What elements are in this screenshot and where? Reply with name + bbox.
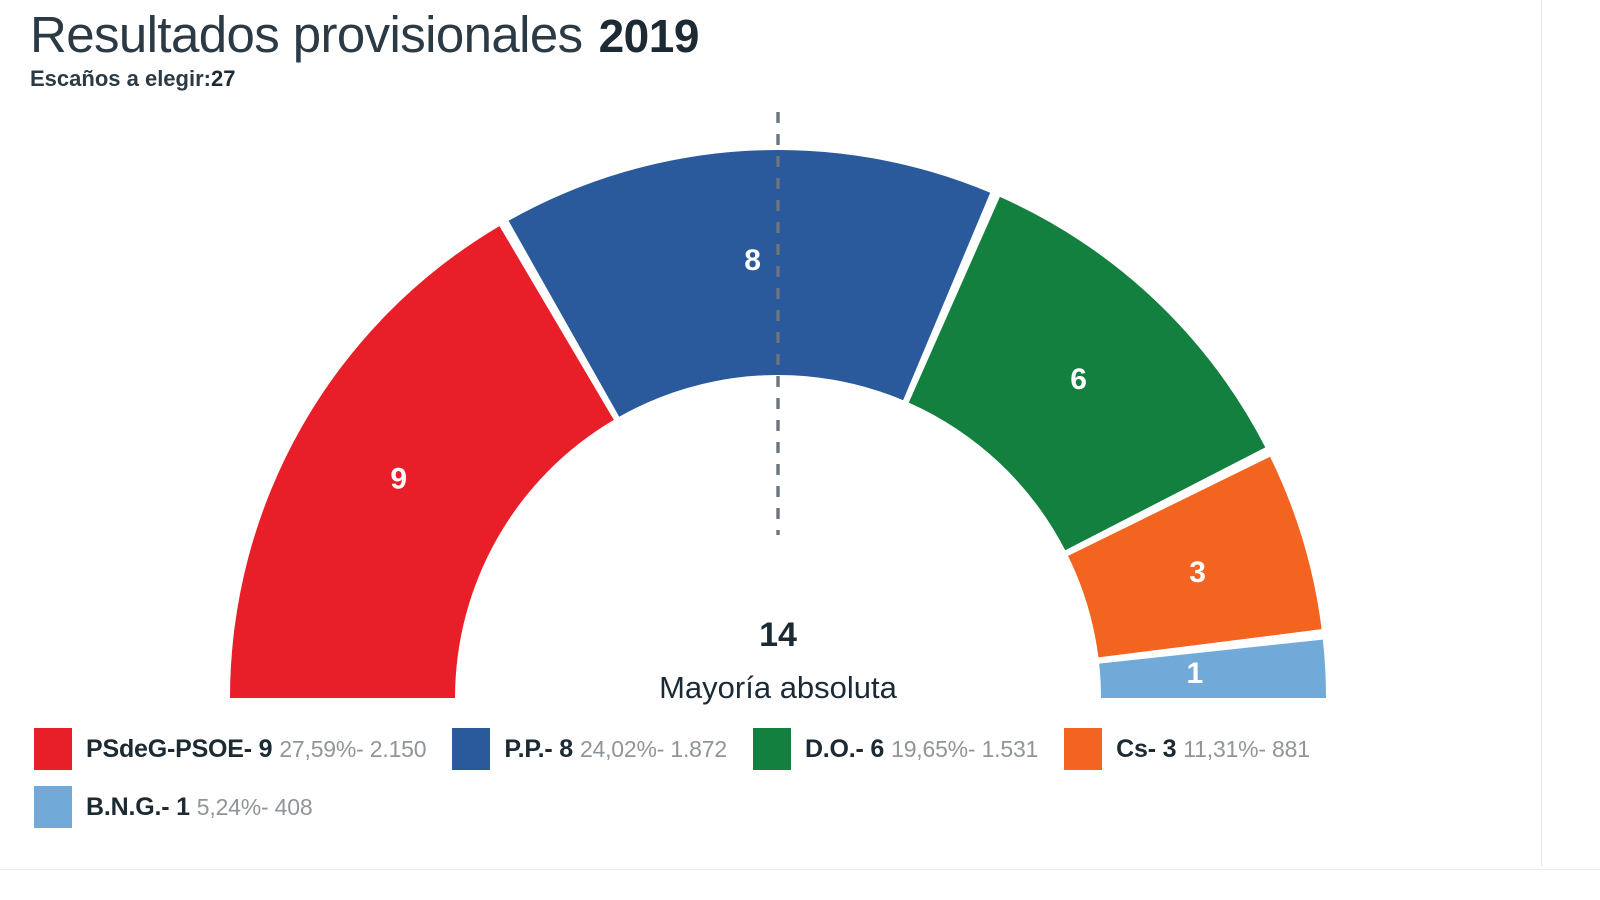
arc-segment-value-psdeg-psoe: 9 bbox=[390, 463, 407, 496]
legend-party-stats: 5,24%- 408 bbox=[197, 794, 313, 821]
arc-segments-group bbox=[230, 150, 1326, 698]
legend-color-swatch bbox=[1064, 728, 1102, 770]
legend-party-seats: P.P.- 8 bbox=[504, 735, 573, 764]
header: Resultados provisionales 2019 Escaños a … bbox=[30, 8, 1130, 92]
arc-segment-d-o[interactable] bbox=[909, 197, 1266, 550]
arc-segment-labels-group: 98631 bbox=[390, 244, 1206, 690]
legend-item[interactable]: P.P.- 824,02%- 1.872 bbox=[452, 726, 727, 772]
legend-party-seats: B.N.G.- 1 bbox=[86, 793, 190, 822]
arc-segment-value-d-o: 6 bbox=[1070, 363, 1087, 396]
legend-color-swatch bbox=[452, 728, 490, 770]
legend-party-stats: 27,59%- 2.150 bbox=[279, 736, 426, 763]
legend-text: P.P.- 824,02%- 1.872 bbox=[504, 735, 727, 764]
arc-segment-psdeg-psoe[interactable] bbox=[230, 226, 614, 698]
seats-to-elect-label: Escaños a elegir: bbox=[30, 66, 211, 92]
arc-segment-value-p-p: 8 bbox=[744, 244, 761, 277]
legend-party-seats: Cs- 3 bbox=[1116, 735, 1176, 764]
legend-party-seats: PSdeG-PSOE- 9 bbox=[86, 735, 272, 764]
legend-item[interactable]: D.O.- 619,65%- 1.531 bbox=[753, 726, 1038, 772]
bottom-edge-rule bbox=[0, 869, 1600, 870]
election-results-infographic: Resultados provisionales 2019 Escaños a … bbox=[0, 0, 1600, 900]
right-edge-rule bbox=[1541, 0, 1542, 866]
legend-color-swatch bbox=[753, 728, 791, 770]
legend-text: Cs- 311,31%- 881 bbox=[1116, 735, 1310, 764]
legend-item[interactable]: B.N.G.- 15,24%- 408 bbox=[34, 784, 312, 830]
legend-text: PSdeG-PSOE- 927,59%- 2.150 bbox=[86, 735, 426, 764]
title-row: Resultados provisionales 2019 bbox=[30, 8, 1130, 63]
legend-party-seats: D.O.- 6 bbox=[805, 735, 884, 764]
legend-party-stats: 19,65%- 1.531 bbox=[891, 736, 1038, 763]
seats-to-elect-value: 27 bbox=[211, 66, 235, 92]
arc-segment-b-n-g[interactable] bbox=[1099, 640, 1326, 698]
title-year: 2019 bbox=[599, 9, 699, 63]
majority-caption: Mayoría absoluta bbox=[659, 670, 898, 705]
arc-segment-p-p[interactable] bbox=[509, 150, 991, 417]
majority-number: 14 bbox=[759, 616, 797, 654]
legend-color-swatch bbox=[34, 728, 72, 770]
arc-segment-value-b-n-g: 1 bbox=[1186, 657, 1203, 690]
subtitle-row: Escaños a elegir: 27 bbox=[30, 66, 1130, 92]
page-title: Resultados provisionales bbox=[30, 8, 583, 62]
legend-color-swatch bbox=[34, 786, 72, 828]
parliament-arc-chart: 98631 14 Mayoría absoluta bbox=[0, 0, 1600, 720]
legend: PSdeG-PSOE- 927,59%- 2.150P.P.- 824,02%-… bbox=[34, 726, 1534, 830]
arc-segment-value-cs: 3 bbox=[1189, 556, 1206, 589]
arc-chart-svg: 98631 14 Mayoría absoluta bbox=[0, 0, 1600, 720]
legend-party-stats: 11,31%- 881 bbox=[1183, 736, 1310, 763]
legend-text: D.O.- 619,65%- 1.531 bbox=[805, 735, 1038, 764]
legend-text: B.N.G.- 15,24%- 408 bbox=[86, 793, 312, 822]
arc-segment-cs[interactable] bbox=[1068, 457, 1322, 658]
legend-party-stats: 24,02%- 1.872 bbox=[580, 736, 727, 763]
legend-item[interactable]: PSdeG-PSOE- 927,59%- 2.150 bbox=[34, 726, 426, 772]
legend-item[interactable]: Cs- 311,31%- 881 bbox=[1064, 726, 1310, 772]
